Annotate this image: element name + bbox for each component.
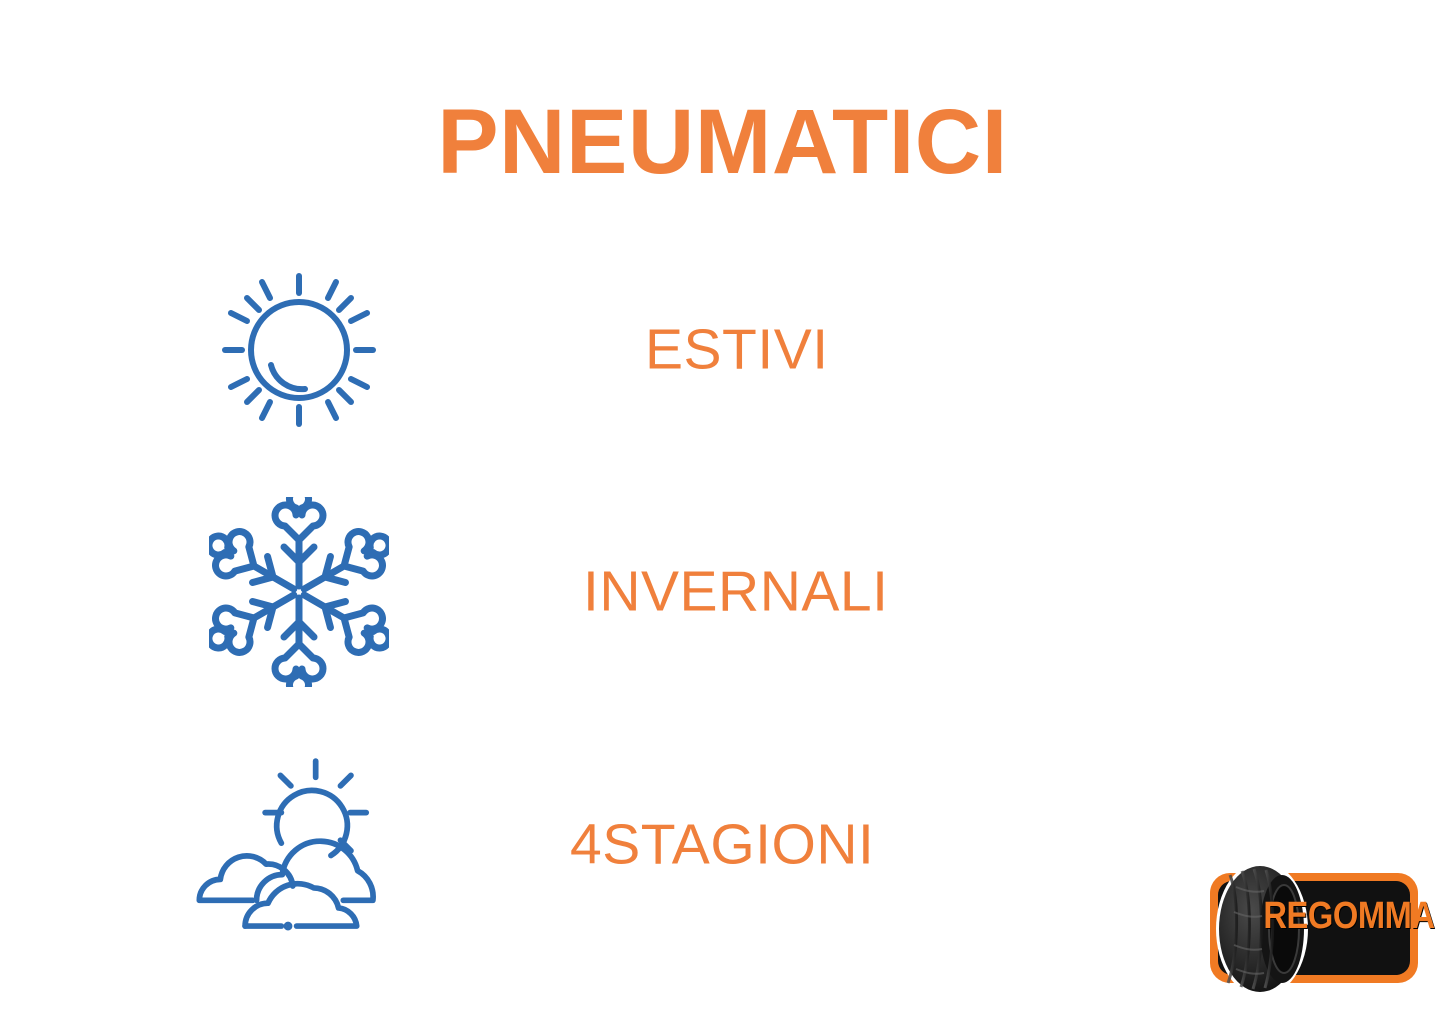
tyre-category-row-estivi: ESTIVI xyxy=(0,250,1445,450)
sun-icon xyxy=(196,250,401,450)
tyre-category-row-invernali: INVERNALI xyxy=(0,492,1445,692)
sun-behind-clouds-icon xyxy=(186,745,391,945)
poster-canvas: PNEUMATICI xyxy=(0,0,1445,1022)
tyre-category-label-4stagioni: 4STAGIONI xyxy=(570,817,874,874)
tyre-category-label-invernali: INVERNALI xyxy=(583,564,888,621)
tyre-category-label-estivi: ESTIVI xyxy=(645,322,829,379)
snowflake-icon xyxy=(196,492,401,692)
regomma-logo[interactable]: REGOMMA xyxy=(1196,857,1431,1003)
page-title: PNEUMATICI xyxy=(0,96,1445,188)
